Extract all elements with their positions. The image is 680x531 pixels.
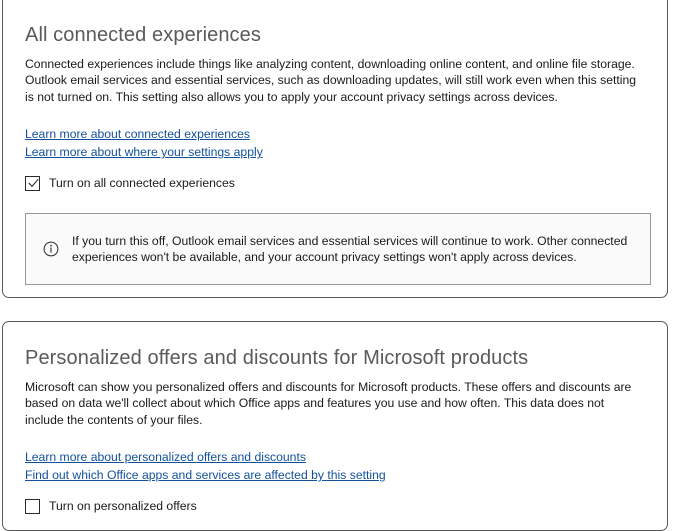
info-banner-connected-experiences: If you turn this off, Outlook email serv… [25,213,651,285]
description-connected-experiences: Connected experiences include things lik… [25,56,643,105]
link-learn-more-settings-apply[interactable]: Learn more about where your settings app… [25,144,263,160]
checkbox-turn-on-personalized-offers[interactable] [25,499,40,514]
info-banner-text: If you turn this off, Outlook email serv… [72,233,632,266]
section-card-personalized-offers: Personalized offers and discounts for Mi… [2,321,668,531]
link-list-connected-experiences: Learn more about connected experiences L… [25,125,645,161]
card-content: All connected experiences Connected expe… [3,0,667,285]
info-circle-icon [43,241,59,257]
privacy-settings-page: All connected experiences Connected expe… [0,0,680,516]
link-learn-more-connected-experiences[interactable]: Learn more about connected experiences [25,126,250,142]
link-learn-more-personalized-offers[interactable]: Learn more about personalized offers and… [25,449,306,465]
section-card-connected-experiences: All connected experiences Connected expe… [2,0,668,298]
link-list-personalized-offers: Learn more about personalized offers and… [25,448,645,484]
page-title-connected-experiences: All connected experiences [25,0,645,48]
link-row: Learn more about connected experiences [25,125,645,143]
link-row: Learn more about where your settings app… [25,143,645,161]
page-title-personalized-offers: Personalized offers and discounts for Mi… [25,322,645,371]
description-personalized-offers: Microsoft can show you personalized offe… [25,379,643,428]
card-content: Personalized offers and discounts for Mi… [3,322,667,514]
checkmark-icon [27,177,40,190]
checkbox-row-personalized-offers[interactable]: Turn on personalized offers [25,499,645,514]
link-row: Find out which Office apps and services … [25,466,645,484]
link-row: Learn more about personalized offers and… [25,448,645,466]
checkbox-row-connected-experiences[interactable]: Turn on all connected experiences [25,176,645,191]
checkbox-label-personalized-offers[interactable]: Turn on personalized offers [49,499,197,514]
checkbox-turn-on-all-connected-experiences[interactable] [25,176,40,191]
checkbox-label-connected-experiences[interactable]: Turn on all connected experiences [49,176,235,191]
link-find-out-affected-apps[interactable]: Find out which Office apps and services … [25,467,386,483]
